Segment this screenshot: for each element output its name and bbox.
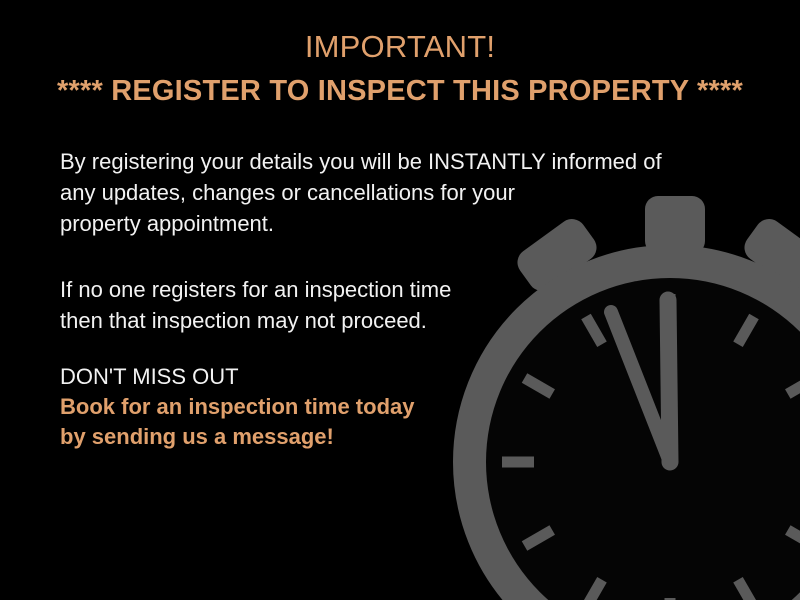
paragraph-no-registration-warning: If no one registers for an inspection ti… xyxy=(60,274,580,336)
paragraph-registration-benefits: By registering your details you will be … xyxy=(60,146,720,239)
cta-book-inspection: Book for an inspection time today xyxy=(60,392,580,422)
page-title: IMPORTANT! xyxy=(0,30,800,64)
cta-dont-miss-out: DON'T MISS OUT xyxy=(60,362,580,392)
page-subtitle: **** REGISTER TO INSPECT THIS PROPERTY *… xyxy=(0,76,800,108)
slide-canvas: IMPORTANT! **** REGISTER TO INSPECT THIS… xyxy=(0,0,800,600)
text-layer: IMPORTANT! **** REGISTER TO INSPECT THIS… xyxy=(0,0,800,600)
call-to-action-block: DON'T MISS OUT Book for an inspection ti… xyxy=(60,362,580,452)
cta-send-message: by sending us a message! xyxy=(60,422,580,452)
